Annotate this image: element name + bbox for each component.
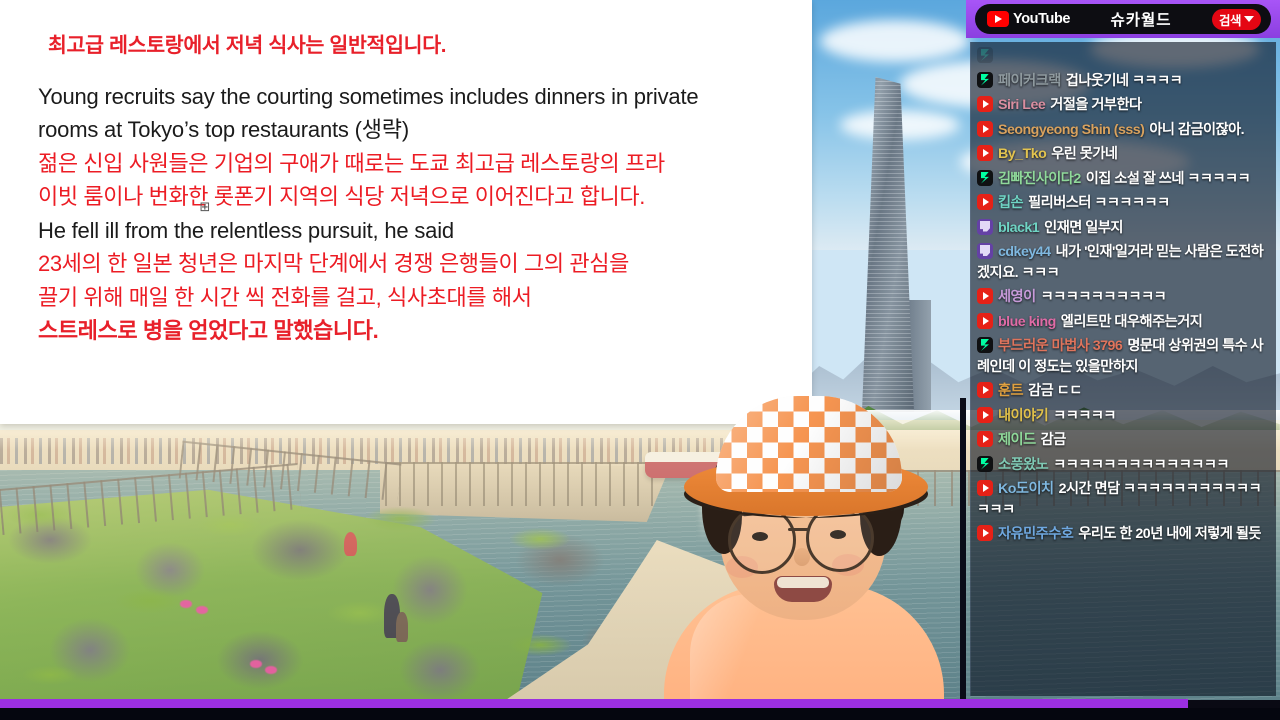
chzzk-icon <box>977 170 993 186</box>
nose <box>794 548 810 566</box>
youtube-play-icon <box>987 11 1009 27</box>
chat-nickname[interactable]: Seongyeong Shin (sss) <box>998 122 1144 138</box>
chat-nickname[interactable]: cdkey44 <box>998 244 1051 260</box>
bottom-letterbox <box>0 708 1280 720</box>
cloud <box>820 20 970 62</box>
slide-line-en-2: rooms at Tokyo’s top restaurants (생략) <box>38 113 782 146</box>
youtube-logo: YouTube <box>987 11 1070 27</box>
chzzk-icon <box>977 47 993 63</box>
bucket-hat-crown <box>716 396 902 492</box>
chat-nickname[interactable]: 제이드 <box>998 432 1036 448</box>
chat-message-text: 이집 소설 잘 쓰네 ㅋㅋㅋㅋㅋ <box>1086 171 1250 187</box>
chat-message-text: ㅋㅋㅋㅋㅋ <box>1053 408 1116 424</box>
chat-message: 내이야기ㅋㅋㅋㅋㅋ <box>977 406 1270 427</box>
hat-shading <box>716 396 902 492</box>
chat-message-text: 감금 <box>1041 432 1066 448</box>
youtube-icon <box>977 431 993 447</box>
search-button-label: 검색 <box>1219 10 1241 29</box>
chat-message-list[interactable]: 페이커크랙겁나웃기네 ㅋㅋㅋㅋSiri Lee거절을 거부한다Seongyeon… <box>970 42 1276 696</box>
youtube-icon <box>977 480 993 496</box>
slide-body: 최고급 레스토랑에서 저녁 식사는 일반적입니다. Young recruits… <box>0 0 812 348</box>
presentation-slide: 최고급 레스토랑에서 저녁 식사는 일반적입니다. Young recruits… <box>0 0 812 424</box>
chat-message-text: 엘리트만 대우해주는거지 <box>1061 314 1203 330</box>
search-button[interactable]: 검색 <box>1212 9 1261 30</box>
chat-message: black1인재면 일부지 <box>977 218 1270 239</box>
chat-nickname[interactable]: 소풍왔노 <box>998 457 1048 473</box>
chat-nickname[interactable]: 부드러운 마법사 3796 <box>998 338 1122 354</box>
chzzk-icon <box>977 72 993 88</box>
chat-header-bar: YouTube 슈카월드 검색 <box>966 0 1280 38</box>
chat-message-text: ㅋㅋㅋㅋㅋㅋㅋㅋㅋㅋㅋㅋㅋㅋ <box>1053 457 1229 473</box>
chzzk-icon <box>977 456 993 472</box>
youtube-icon <box>977 194 993 210</box>
youtube-icon <box>977 382 993 398</box>
chat-message: cdkey44내가 '인재'일거라 믿는 사람은 도전하겠지요. ㅋㅋㅋ <box>977 242 1270 283</box>
chat-nickname[interactable]: Siri Lee <box>998 97 1045 113</box>
chat-nickname[interactable]: Ko도이치 <box>998 481 1054 497</box>
purple-accent-bar <box>0 699 1188 708</box>
chat-message: 소풍왔노ㅋㅋㅋㅋㅋㅋㅋㅋㅋㅋㅋㅋㅋㅋ <box>977 455 1270 476</box>
eyeglass-bridge <box>788 528 810 531</box>
chat-nickname[interactable]: 김빠진사이다2 <box>998 171 1081 187</box>
chat-message-text: 우리도 한 20년 내에 저렇게 될듯 <box>1078 526 1261 542</box>
chat-message-text: 겁나웃기네 ㅋㅋㅋㅋ <box>1066 73 1182 89</box>
youtube-icon <box>977 313 993 329</box>
youtube-icon <box>977 145 993 161</box>
slide-line-ko-2: 이빗 룸이나 번화한 롯폰기 지역의 식당 저녁으로 이어진다고 합니다. <box>38 180 782 213</box>
twitch-icon <box>977 243 993 259</box>
chat-nickname[interactable]: 세영이 <box>998 289 1036 305</box>
chat-nickname[interactable]: 킵손 <box>998 195 1023 211</box>
youtube-icon <box>977 96 993 112</box>
chat-message-text: 우린 못가네 <box>1051 146 1117 162</box>
stream-canvas: 최고급 레스토랑에서 저녁 식사는 일반적입니다. Young recruits… <box>0 0 1280 720</box>
chat-nickname[interactable]: 자유민주수호 <box>998 526 1073 542</box>
slide-line-ko-4: 끌기 위해 매일 한 시간 씩 전화를 걸고, 식사초대를 해서 <box>38 281 782 314</box>
chat-nickname[interactable]: By_Tko <box>998 146 1046 162</box>
chat-message: Seongyeong Shin (sss)아니 감금이잖아. <box>977 120 1270 141</box>
chat-message: 제이드감금 <box>977 430 1270 451</box>
youtube-icon <box>977 525 993 541</box>
chat-panel: YouTube 슈카월드 검색 페이커크랙겁나웃기네 ㅋㅋㅋㅋSiri Lee거… <box>966 0 1280 720</box>
chat-nickname[interactable]: blue king <box>998 314 1056 330</box>
twitch-icon <box>977 219 993 235</box>
slide-line-en-1: Young recruits say the courting sometime… <box>38 80 782 113</box>
youtube-icon <box>977 121 993 137</box>
chat-message-text: 아니 감금이잖아. <box>1149 122 1244 138</box>
chat-nickname[interactable]: 페이커크랙 <box>998 73 1061 89</box>
channel-title: 슈카월드 <box>1070 8 1212 30</box>
chat-message: 킵손필리버스터 ㅋㅋㅋㅋㅋㅋ <box>977 193 1270 214</box>
youtube-icon <box>977 407 993 423</box>
platform-label: YouTube <box>1013 11 1070 27</box>
chat-message: 훈트감금 ㄷㄷ <box>977 381 1270 402</box>
slide-line-ko-3: 23세의 한 일본 청년은 마지막 단계에서 경쟁 은행들이 그의 관심을 <box>38 247 782 280</box>
chat-message: 페이커크랙겁나웃기네 ㅋㅋㅋㅋ <box>977 71 1270 92</box>
chat-message-text: ㅋㅋㅋㅋㅋㅋㅋㅋㅋㅋ <box>1041 289 1167 305</box>
youtube-icon <box>977 288 993 304</box>
chat-message: 김빠진사이다2이집 소설 잘 쓰네 ㅋㅋㅋㅋㅋ <box>977 169 1270 190</box>
teeth <box>777 577 829 588</box>
chat-nickname[interactable]: black1 <box>998 220 1039 236</box>
chzzk-icon <box>977 337 993 353</box>
chat-message: Siri Lee거절을 거부한다 <box>977 95 1270 116</box>
mouth <box>774 576 832 602</box>
crosshair-cursor-icon: ⊞ <box>198 200 212 214</box>
chat-message-text: 필리버스터 ㅋㅋㅋㅋㅋㅋ <box>1028 195 1170 211</box>
chat-message: By_Tko우린 못가네 <box>977 144 1270 165</box>
chat-message-text: 인재면 일부지 <box>1044 220 1123 236</box>
chat-message <box>977 46 1270 67</box>
streamer-webcam-overlay <box>660 398 960 700</box>
slide-line-ko-1: 젊은 신입 사원들은 기업의 구애가 때로는 도쿄 최고급 레스토랑의 프라 <box>38 147 782 180</box>
chat-nickname[interactable]: 내이야기 <box>998 408 1048 424</box>
chevron-down-icon <box>1244 16 1254 22</box>
chat-message: 세영이ㅋㅋㅋㅋㅋㅋㅋㅋㅋㅋ <box>977 287 1270 308</box>
chat-message: blue king엘리트만 대우해주는거지 <box>977 312 1270 333</box>
chat-message-text: 감금 ㄷㄷ <box>1028 383 1082 399</box>
chat-message: 자유민주수호우리도 한 20년 내에 저렇게 될듯 <box>977 524 1270 545</box>
slide-line-ko-bold: 스트레스로 병을 얻었다고 말했습니다. <box>38 314 782 347</box>
slide-paragraph-block: Young recruits say the courting sometime… <box>38 80 782 348</box>
chat-message-text: 거절을 거부한다 <box>1050 97 1141 113</box>
slide-line-en-3: He fell ill from the relentless pursuit,… <box>38 214 782 247</box>
chat-header-pill: YouTube 슈카월드 검색 <box>975 4 1271 34</box>
slide-headline: 최고급 레스토랑에서 저녁 식사는 일반적입니다. <box>48 28 782 58</box>
chat-nickname[interactable]: 훈트 <box>998 383 1023 399</box>
chat-message: Ko도이치2시간 면담 ㅋㅋㅋㅋㅋㅋㅋㅋㅋㅋㅋㅋㅋㅋ <box>977 479 1270 520</box>
chat-message: 부드러운 마법사 3796명문대 상위권의 특수 사례인데 이 정도는 있을만하… <box>977 336 1270 377</box>
